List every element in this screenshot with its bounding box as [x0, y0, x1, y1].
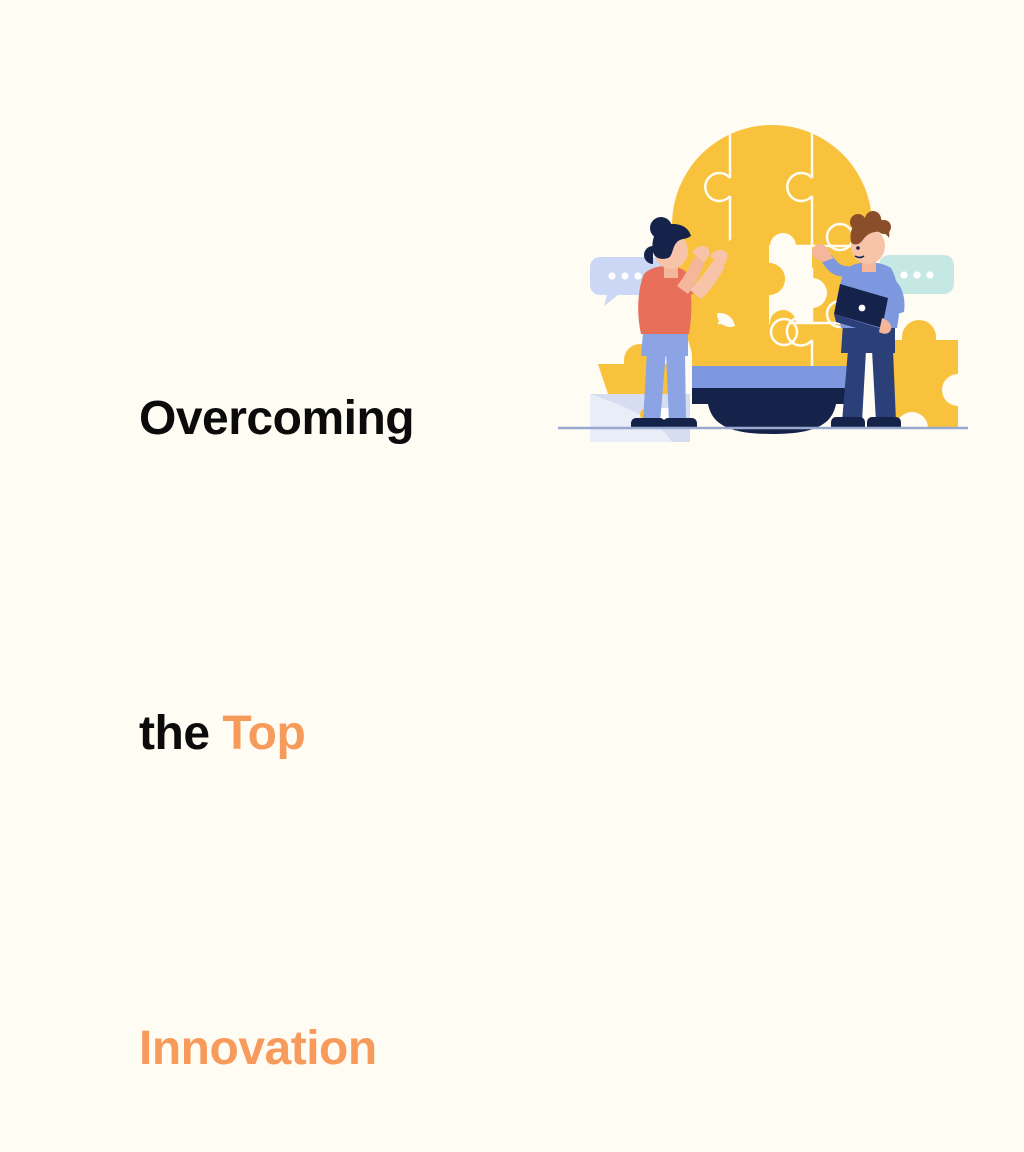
headline-line-1: Overcoming [62, 324, 482, 513]
woman-hair-bun [650, 217, 672, 239]
man-leg-front [872, 350, 896, 422]
man-hand-raised [812, 244, 828, 260]
bulb-screw-foot [708, 404, 836, 434]
man-shoe-front [867, 417, 901, 427]
slide-canvas: Overcoming the Top Innovation Challenges [0, 0, 1024, 576]
woman-leg-front [666, 351, 686, 423]
bulb-band-periwinkle [692, 366, 852, 388]
woman-shoe-front [663, 418, 697, 427]
headline-word-innovation: Innovation [139, 1022, 377, 1075]
page-title: Overcoming the Top Innovation Challenges [62, 198, 482, 1152]
man-shoe-back [831, 417, 865, 427]
puzzle-lightbulb-teamwork-illustration [540, 118, 990, 448]
woman-shoe-back [631, 418, 665, 427]
bulb-base [692, 366, 852, 434]
headline-word-the: the [139, 707, 222, 760]
headline-word-overcoming: Overcoming [139, 392, 414, 445]
bulb-band-navy [692, 388, 852, 404]
laptop-logo-icon [859, 305, 866, 312]
headline-line-2: the Top [62, 639, 482, 828]
headline-word-top: Top [222, 707, 305, 760]
headline-line-3: Innovation [62, 954, 482, 1143]
